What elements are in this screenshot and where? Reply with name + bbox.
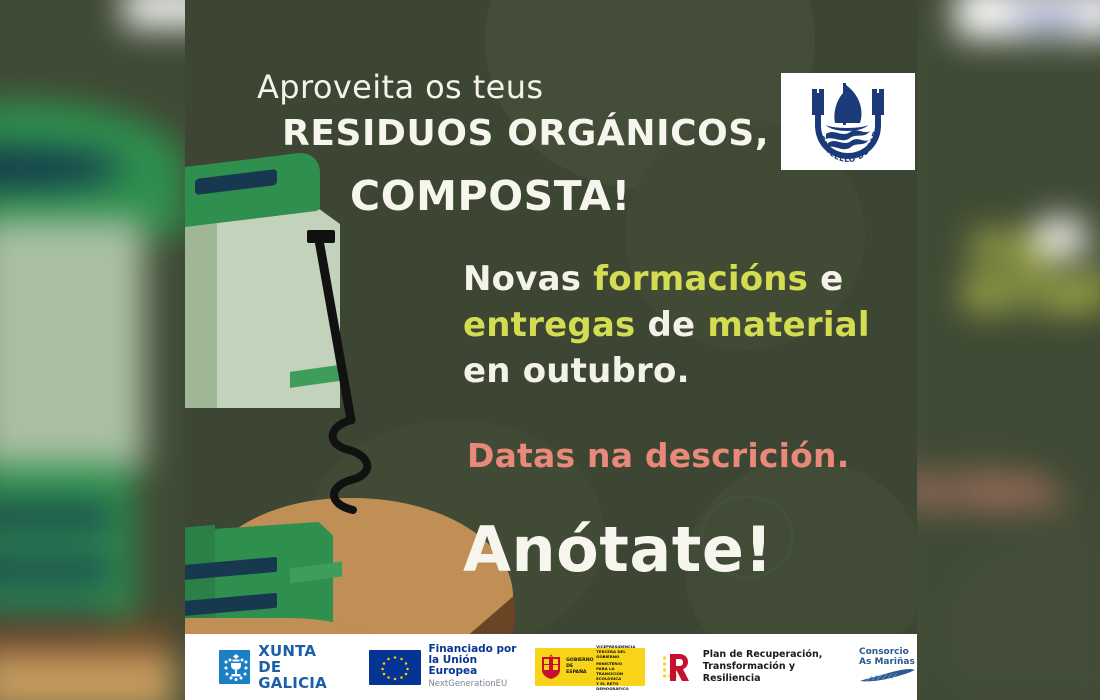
gobierno-line-4: TERCERA DEL GOBIERNO xyxy=(596,649,640,659)
logo-gobierno-de-espana: GOBIERNO DE ESPAÑA VICEPRESIDENCIA TERCE… xyxy=(535,648,645,686)
eu-line-2: la Unión Europea xyxy=(428,655,517,677)
bg-vent-slot xyxy=(0,558,113,581)
body-paragraph: Novas formacións e entregas de material … xyxy=(463,256,895,394)
poster-screenshot: ns erial ición. xyxy=(0,0,1100,700)
funding-logo-bar: XUNTA DE GALICIA xyxy=(185,634,917,700)
plan-wordmark: Plan de Recuperación, Transformación y R… xyxy=(703,649,841,685)
background-right-copy: ns erial ición. xyxy=(904,0,1100,700)
bg-vent-slot xyxy=(0,506,113,529)
concello-de-sada-badge: CONCELLO DE SADA xyxy=(781,73,915,170)
xunta-line-2: DE GALICIA xyxy=(258,659,347,691)
spain-coat-of-arms-icon xyxy=(540,654,562,680)
gobierno-line-7: Y EL RETO DEMOGRÁFICO xyxy=(596,681,640,691)
composter-body-shade xyxy=(185,208,217,408)
gobierno-line-3: VICEPRESIDENCIA xyxy=(596,644,640,649)
consorcio-wave-icon xyxy=(859,668,917,688)
xunta-emblem-icon xyxy=(219,650,250,684)
xunta-wordmark: XUNTA DE GALICIA xyxy=(258,643,347,691)
logo-plan-recuperacion: Plan de Recuperación, Transformación y R… xyxy=(661,649,841,685)
bg-text-dot xyxy=(1033,217,1089,259)
plan-recuperacion-icon xyxy=(661,650,697,684)
body-word-en-outubro: en outubro. xyxy=(463,351,690,391)
consorcio-line-1: Consorcio xyxy=(859,647,909,657)
gobierno-line-2: DE ESPAÑA xyxy=(566,664,592,676)
logo-xunta-de-galicia: XUNTA DE GALICIA xyxy=(219,643,347,691)
dates-note: Datas na descrición. xyxy=(467,436,849,475)
body-word-de: de xyxy=(648,305,696,345)
bg-soil-light xyxy=(0,652,176,700)
eu-flag-icon xyxy=(369,650,421,685)
headline-line-3: COMPOSTA! xyxy=(350,172,631,220)
body-word-material: material xyxy=(707,305,869,345)
eu-line-3: NextGenerationEU xyxy=(428,677,517,690)
ministerio-wordmark: VICEPRESIDENCIA TERCERA DEL GOBIERNO MIN… xyxy=(596,644,640,691)
bg-composter-lower xyxy=(0,464,134,630)
plan-line-1: Plan de Recuperación, xyxy=(703,649,841,661)
bg-text-fragment-3: ición. xyxy=(907,459,1072,521)
body-word-formacions: formacións xyxy=(593,259,808,299)
body-word-e: e xyxy=(820,259,843,299)
poster-panel: Aproveita os teus RESIDUOS ORGÁNICOS, CO… xyxy=(185,0,917,700)
plan-line-2: Transformación y Resiliencia xyxy=(703,661,841,685)
xunta-line-1: XUNTA xyxy=(258,643,347,659)
logo-consorcio-as-marinas: Consorcio As Mariñas xyxy=(859,647,917,688)
logo-european-union: Financiado por la Unión Europea NextGene… xyxy=(369,644,517,690)
gobierno-line-6: PARA LA TRANSICIÓN ECOLÓGICA xyxy=(596,666,640,681)
headline-line-1: Aproveita os teus xyxy=(257,68,544,106)
call-to-action: Anótate! xyxy=(463,513,773,586)
body-word-novas: Novas xyxy=(463,259,581,299)
body-word-entregas: entregas xyxy=(463,305,635,345)
bg-blob xyxy=(935,527,1100,700)
bg-composter-body xyxy=(0,220,144,470)
bg-text-fragment-2: erial xyxy=(962,254,1100,325)
aerator-tool-icon xyxy=(305,230,415,530)
consorcio-line-2: As Mariñas xyxy=(859,657,915,667)
headline-line-2: RESIDUOS ORGÁNICOS, xyxy=(282,113,769,154)
eu-wordmark: Financiado por la Unión Europea NextGene… xyxy=(428,644,517,690)
gobierno-wordmark: GOBIERNO DE ESPAÑA xyxy=(566,658,592,676)
sada-coat-of-arms-icon: CONCELLO DE SADA xyxy=(802,77,894,165)
